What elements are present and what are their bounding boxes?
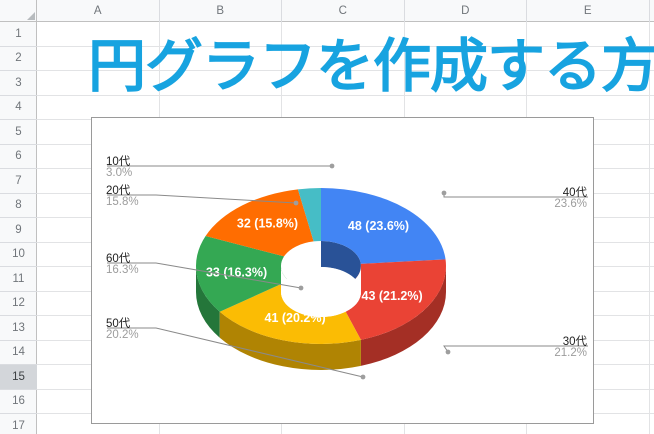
chart-callout-pct-50代: 20.2% [106, 329, 139, 341]
row-header-7[interactable]: 7 [0, 169, 37, 194]
row-header-3[interactable]: 3 [0, 71, 37, 96]
row-header-17[interactable]: 17 [0, 414, 37, 434]
column-header-d[interactable]: D [405, 0, 528, 22]
column-header-b[interactable]: B [160, 0, 283, 22]
pie-slice-value-20代: 32 (15.8%) [237, 217, 298, 231]
pie-chart-object[interactable]: 48 (23.6%)43 (21.2%)41 (20.2%)33 (16.3%)… [91, 117, 594, 424]
row-header-11[interactable]: 11 [0, 267, 37, 292]
row-header-strip[interactable]: 1234567891011121314151617 [0, 22, 37, 434]
pie-slice-value-50代: 41 (20.2%) [265, 311, 326, 325]
column-header-c[interactable]: C [282, 0, 405, 22]
leader-dot-60代 [299, 286, 304, 291]
row-header-13[interactable]: 13 [0, 316, 37, 341]
row-header-8[interactable]: 8 [0, 194, 37, 219]
leader-dot-30代 [446, 350, 451, 355]
column-header-strip[interactable]: ABCDE [37, 0, 654, 22]
leader-dot-50代 [361, 375, 366, 380]
leader-dot-20代 [294, 201, 299, 206]
select-all-corner[interactable] [0, 0, 37, 22]
row-header-10[interactable]: 10 [0, 243, 37, 268]
row-header-12[interactable]: 12 [0, 292, 37, 317]
chart-callout-pct-20代: 15.8% [106, 196, 139, 208]
row-header-9[interactable]: 9 [0, 218, 37, 243]
chart-callout-pct-30代: 21.2% [554, 347, 587, 359]
chart-callout-pct-40代: 23.6% [554, 198, 587, 210]
chart-callout-pct-60代: 16.3% [106, 264, 139, 276]
chart-callout-pct-10代: 3.0% [106, 167, 132, 179]
row-header-16[interactable]: 16 [0, 390, 37, 415]
row-header-1[interactable]: 1 [0, 22, 37, 47]
spreadsheet-app: ABCDE 1234567891011121314151617 円グラフを作成す… [0, 0, 654, 434]
pie-slice-value-30代: 43 (21.2%) [362, 289, 423, 303]
leader-dot-10代 [330, 164, 335, 169]
row-header-14[interactable]: 14 [0, 341, 37, 366]
row-header-5[interactable]: 5 [0, 120, 37, 145]
row-header-6[interactable]: 6 [0, 145, 37, 170]
column-header-e[interactable]: E [527, 0, 650, 22]
pie-slice-value-40代: 48 (23.6%) [348, 219, 409, 233]
select-all-triangle-icon [27, 12, 35, 20]
column-header-a[interactable]: A [37, 0, 160, 22]
row-header-15[interactable]: 15 [0, 365, 37, 390]
pie-chart-canvas: 48 (23.6%)43 (21.2%)41 (20.2%)33 (16.3%)… [92, 118, 595, 425]
leader-dot-40代 [442, 191, 447, 196]
row-header-2[interactable]: 2 [0, 47, 37, 72]
row-header-4[interactable]: 4 [0, 96, 37, 121]
page-title: 円グラフを作成する方法 [88, 36, 654, 98]
